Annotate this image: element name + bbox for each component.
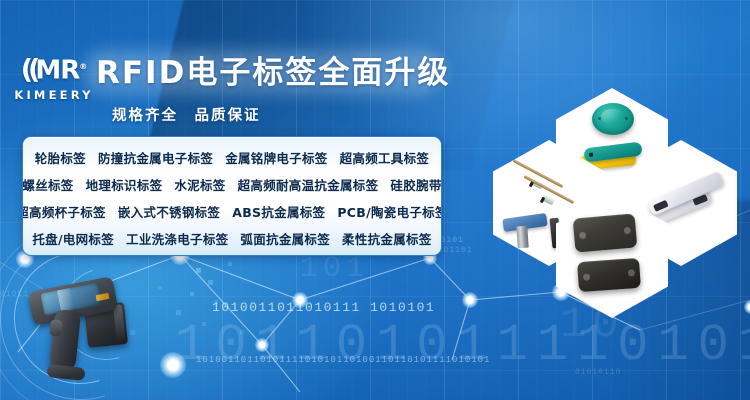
tag-mount-hole <box>583 273 590 280</box>
teal-disc-tag <box>592 103 634 135</box>
product-tag-panel: 轮胎标签 防撞抗金属电子标签 金属铭牌电子标签 超高频工具标签 螺丝标签 地理标… <box>22 136 442 256</box>
logo-arcs: (( <box>21 55 36 86</box>
decor-square <box>202 322 206 326</box>
decor-square <box>190 292 194 296</box>
decor-square <box>158 286 162 290</box>
binary-overlay-large: 101101011110101 0 <box>175 316 750 375</box>
tag-item: 托盘/电网标签 <box>32 229 114 248</box>
disc-hole <box>598 117 601 120</box>
binary-overlay-small-6: 01010110 <box>575 368 621 377</box>
rfid-promo-banner: 101101011110101 0 101 10 101001101101011… <box>0 0 750 400</box>
decor-square <box>196 268 201 273</box>
tag-item: 嵌入式不锈钢标签 <box>118 202 220 221</box>
reader-grip-base <box>46 364 85 381</box>
tag-item: 超高频工具标签 <box>340 148 430 167</box>
headline-text: RFID电子标签全面升级 <box>96 50 450 96</box>
reader-pistol-grip <box>49 309 81 373</box>
tag-item: 轮胎标签 <box>35 148 86 167</box>
tag-item: 硅胶腕带 <box>390 175 441 194</box>
tag-row: 螺丝标签 地理标识标签 水泥标签 超高频耐高温抗金属标签 硅胶腕带 <box>23 171 441 198</box>
tag-item: 螺丝标签 <box>22 175 73 194</box>
tag-item: 超高频杯子标签 <box>22 202 106 221</box>
tag-item: 水泥标签 <box>174 175 225 194</box>
binary-overlay-mid: 1010011011010111 1010101 <box>212 300 435 315</box>
network-node <box>160 352 186 378</box>
tag-item: 金属铭牌电子标签 <box>225 148 327 167</box>
tag-row: 超高频杯子标签 嵌入式不锈钢标签 ABS抗金属标签 PCB/陶瓷电子标签 <box>23 198 441 225</box>
tag-contact <box>653 200 669 212</box>
decor-square <box>208 280 213 285</box>
tag-row: 轮胎标签 防撞抗金属电子标签 金属铭牌电子标签 超高频工具标签 <box>23 144 441 171</box>
tag-item: PCB/陶瓷电子标签 <box>337 202 442 221</box>
decor-square <box>214 300 218 304</box>
tag-item: 工业洗涤电子标签 <box>126 229 228 248</box>
tag-mount-hole <box>628 269 635 276</box>
subheadline-text: 规格齐全 品质保证 <box>112 104 261 125</box>
tag-item: 超高频耐高温抗金属标签 <box>238 175 379 194</box>
tag-item: 地理标识标签 <box>86 175 163 194</box>
network-node <box>744 300 750 314</box>
screw-shaft <box>516 226 529 249</box>
reader-trigger <box>49 319 63 336</box>
black-anti-metal-tag <box>573 213 638 252</box>
tag-row: 托盘/电网标签 工业洗涤电子标签 弧面抗金属标签 柔性抗金属标签 <box>23 225 441 252</box>
network-node <box>462 292 478 308</box>
decor-square <box>240 330 244 334</box>
disc-hole <box>625 117 628 120</box>
tag-chip <box>589 152 593 156</box>
tag-item: 防撞抗金属电子标签 <box>98 148 213 167</box>
handheld-rfid-reader[interactable] <box>24 276 154 396</box>
tag-item: 弧面抗金属标签 <box>240 229 330 248</box>
tag-item: 柔性抗金属标签 <box>342 229 432 248</box>
binary-overlay-large-3: 101 <box>300 252 369 286</box>
tag-item: ABS抗金属标签 <box>232 202 325 221</box>
tag-mount-hole <box>579 232 587 240</box>
decor-square <box>176 310 181 315</box>
logo-wordmark: KIMEERY <box>12 88 96 102</box>
network-node <box>255 338 269 352</box>
logo-mark-text: MR <box>35 56 79 86</box>
tag-mount-hole <box>624 227 632 235</box>
black-anti-metal-tag <box>577 258 641 292</box>
headline-block: RFID电子标签全面升级 <box>96 50 450 96</box>
decor-square <box>228 262 232 266</box>
network-node <box>292 292 308 308</box>
binary-overlay-small-1: 1010011011010111101010110100110110101111… <box>196 355 490 365</box>
